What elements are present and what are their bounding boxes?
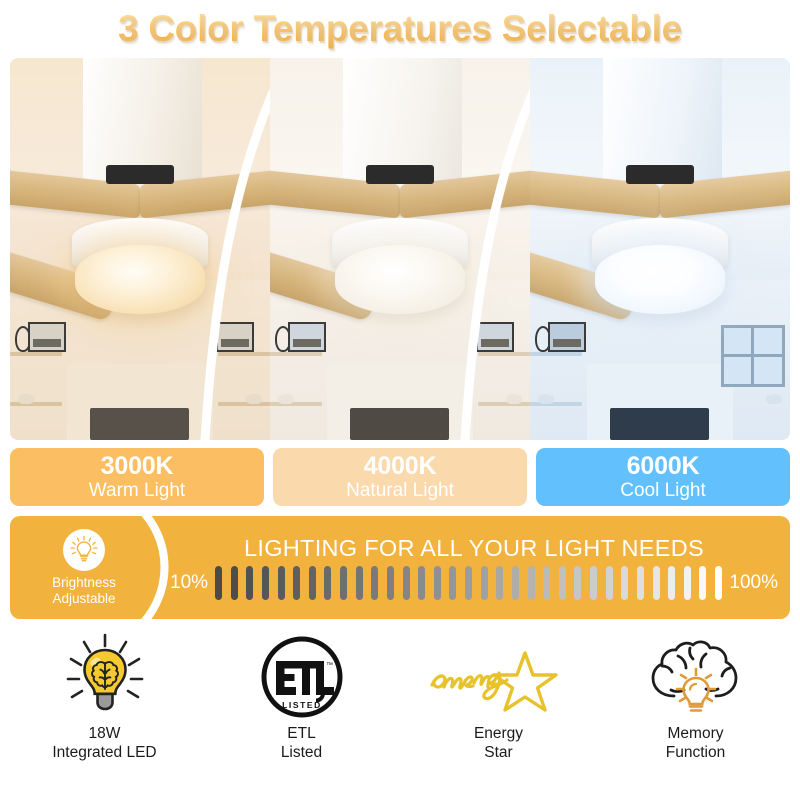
feature-label-line2: Function bbox=[666, 744, 725, 763]
feature-memory-function: Memory Function bbox=[597, 625, 794, 781]
brightness-bar[interactable] bbox=[668, 566, 675, 600]
brightness-min-label: 10% bbox=[170, 572, 208, 594]
brightness-bar[interactable] bbox=[574, 566, 581, 600]
brightness-left-block: Brightness Adjustable bbox=[10, 516, 158, 619]
brightness-bar[interactable] bbox=[653, 566, 660, 600]
brightness-bar[interactable] bbox=[512, 566, 519, 600]
brightness-caption: Brightness Adjustable bbox=[52, 575, 116, 607]
svg-text:™: ™ bbox=[326, 662, 333, 669]
brightness-bar[interactable] bbox=[590, 566, 597, 600]
fan-motor-housing bbox=[366, 165, 434, 184]
brain-bulb-icon bbox=[62, 631, 148, 723]
brightness-bar[interactable] bbox=[340, 566, 347, 600]
feature-label: Energy Star bbox=[474, 725, 523, 762]
badge-label: Warm Light bbox=[89, 481, 185, 500]
brightness-bar[interactable] bbox=[371, 566, 378, 600]
brightness-right-block: LIGHTING FOR ALL YOUR LIGHT NEEDS 10% 10… bbox=[158, 516, 790, 619]
brightness-bar[interactable] bbox=[715, 566, 722, 600]
brightness-bar[interactable] bbox=[543, 566, 550, 600]
etl-listed-icon: ™ LISTED bbox=[260, 631, 344, 723]
feature-label-line1: Energy bbox=[474, 725, 523, 744]
natural-light-photo[interactable] bbox=[270, 58, 530, 440]
brightness-bar[interactable] bbox=[356, 566, 363, 600]
feature-etl-listed: ™ LISTED ETL Listed bbox=[203, 625, 400, 781]
brightness-max-label: 100% bbox=[729, 572, 778, 594]
feature-label-line2: Star bbox=[474, 744, 523, 763]
brightness-bar[interactable] bbox=[262, 566, 269, 600]
brightness-bar[interactable] bbox=[465, 566, 472, 600]
brightness-bar[interactable] bbox=[278, 566, 285, 600]
brightness-headline: LIGHTING FOR ALL YOUR LIGHT NEEDS bbox=[244, 535, 704, 562]
brightness-bar[interactable] bbox=[528, 566, 535, 600]
brain-memory-icon bbox=[644, 631, 748, 723]
warm-light-photo[interactable] bbox=[10, 58, 270, 440]
feature-label: 18W Integrated LED bbox=[52, 725, 156, 762]
light-bulb-rays-icon bbox=[63, 529, 105, 571]
feature-label-line1: ETL bbox=[281, 725, 322, 744]
page-title: 3 Color Temperatures Selectable bbox=[118, 8, 682, 50]
brightness-bar[interactable] bbox=[496, 566, 503, 600]
brightness-bar[interactable] bbox=[606, 566, 613, 600]
brightness-bar[interactable] bbox=[684, 566, 691, 600]
temperature-badge-row: 3000K Warm Light 4000K Natural Light 600… bbox=[10, 448, 790, 506]
feature-label: ETL Listed bbox=[281, 725, 322, 762]
brightness-bar[interactable] bbox=[215, 566, 222, 600]
badge-3000k[interactable]: 3000K Warm Light bbox=[10, 448, 264, 506]
feature-label-line2: Integrated LED bbox=[52, 744, 156, 763]
brightness-bar[interactable] bbox=[246, 566, 253, 600]
brightness-caption-line1: Brightness bbox=[52, 575, 116, 591]
feature-label-line1: Memory bbox=[666, 725, 725, 744]
brightness-bar[interactable] bbox=[418, 566, 425, 600]
brightness-bar[interactable] bbox=[481, 566, 488, 600]
brightness-bar[interactable] bbox=[434, 566, 441, 600]
light-diffuser-cool bbox=[595, 245, 725, 314]
page-title-bar: 3 Color Temperatures Selectable bbox=[0, 0, 800, 58]
light-diffuser-warm bbox=[75, 245, 205, 314]
feature-label-line2: Listed bbox=[281, 744, 322, 763]
fan-motor-housing bbox=[106, 165, 174, 184]
badge-label: Cool Light bbox=[620, 481, 706, 500]
badge-4000k[interactable]: 4000K Natural Light bbox=[273, 448, 527, 506]
badge-kelvin: 4000K bbox=[364, 454, 437, 480]
feature-row: 18W Integrated LED ™ LISTED ETL Listed bbox=[6, 625, 794, 781]
feature-integrated-led: 18W Integrated LED bbox=[6, 625, 203, 781]
brightness-adjustable-panel: Brightness Adjustable LIGHTING FOR ALL Y… bbox=[10, 516, 790, 619]
cool-light-photo[interactable] bbox=[530, 58, 790, 440]
brightness-scale[interactable]: 10% 100% bbox=[158, 566, 790, 600]
brightness-bar[interactable] bbox=[559, 566, 566, 600]
badge-kelvin: 3000K bbox=[101, 454, 174, 480]
brightness-bar[interactable] bbox=[699, 566, 706, 600]
feature-label-line1: 18W bbox=[52, 725, 156, 744]
color-temperature-photo-strip bbox=[10, 58, 790, 440]
ceiling-fan bbox=[10, 58, 270, 440]
light-diffuser-natural bbox=[335, 245, 465, 314]
badge-kelvin: 6000K bbox=[627, 454, 700, 480]
brightness-caption-line2: Adjustable bbox=[52, 591, 116, 607]
brightness-bar[interactable] bbox=[403, 566, 410, 600]
badge-label: Natural Light bbox=[346, 481, 454, 500]
ceiling-fan bbox=[270, 58, 530, 440]
brightness-bar-track[interactable] bbox=[215, 566, 722, 600]
brightness-bar[interactable] bbox=[637, 566, 644, 600]
brightness-bar[interactable] bbox=[324, 566, 331, 600]
energy-star-icon bbox=[424, 631, 574, 723]
feature-energy-star: Energy Star bbox=[400, 625, 597, 781]
svg-text:LISTED: LISTED bbox=[282, 700, 322, 710]
ceiling-fan bbox=[530, 58, 790, 440]
feature-label: Memory Function bbox=[666, 725, 725, 762]
brightness-bar[interactable] bbox=[621, 566, 628, 600]
brightness-bar[interactable] bbox=[449, 566, 456, 600]
brightness-bar[interactable] bbox=[293, 566, 300, 600]
brightness-bar[interactable] bbox=[309, 566, 316, 600]
brightness-bar[interactable] bbox=[387, 566, 394, 600]
brightness-bar[interactable] bbox=[231, 566, 238, 600]
badge-6000k[interactable]: 6000K Cool Light bbox=[536, 448, 790, 506]
fan-motor-housing bbox=[626, 165, 694, 184]
